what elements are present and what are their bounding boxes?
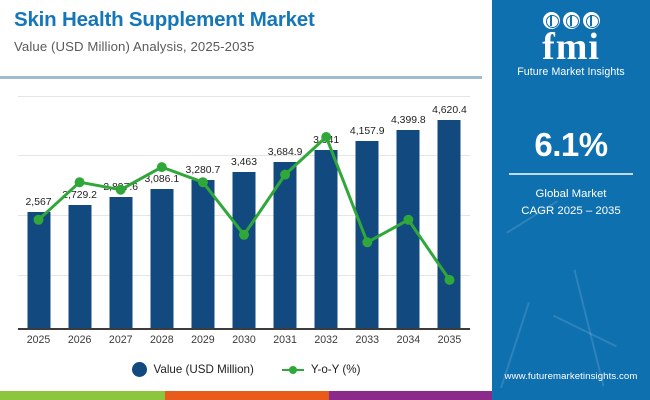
x-axis-tick: 2032 bbox=[306, 334, 347, 346]
globe-icon bbox=[583, 12, 600, 29]
yoy-line-series bbox=[18, 90, 470, 330]
cagr-value: 6.1% bbox=[492, 128, 650, 161]
yoy-data-point[interactable] bbox=[239, 230, 249, 240]
yoy-point-group bbox=[34, 132, 455, 285]
cagr-callout: 6.1% Global Market CAGR 2025 – 2035 bbox=[492, 128, 650, 220]
legend-item-yoy[interactable]: Y-o-Y (%) bbox=[282, 363, 361, 376]
yoy-data-point[interactable] bbox=[198, 177, 208, 187]
x-axis-tick: 2026 bbox=[59, 334, 100, 346]
chart-header: Skin Health Supplement Market Value (USD… bbox=[14, 8, 480, 54]
x-axis-tick: 2031 bbox=[265, 334, 306, 346]
yoy-data-point[interactable] bbox=[403, 215, 413, 225]
chart-infographic: Skin Health Supplement Market Value (USD… bbox=[0, 0, 650, 400]
stripe-segment bbox=[0, 391, 165, 400]
chart-legend: Value (USD Million) Y-o-Y (%) bbox=[0, 362, 492, 377]
cagr-description-line2: CAGR 2025 – 2035 bbox=[492, 203, 650, 220]
stripe-segment bbox=[329, 391, 492, 400]
yoy-data-point[interactable] bbox=[116, 185, 126, 195]
x-axis-tick: 2025 bbox=[18, 334, 59, 346]
stripe-segment bbox=[165, 391, 329, 400]
x-axis-tick: 2029 bbox=[182, 334, 223, 346]
x-axis-tick: 2033 bbox=[347, 334, 388, 346]
brand-panel: fmi Future Market Insights 6.1% Global M… bbox=[492, 0, 650, 400]
x-axis-tick: 2035 bbox=[429, 334, 470, 346]
yoy-data-point[interactable] bbox=[34, 215, 44, 225]
header-divider bbox=[0, 76, 482, 79]
legend-item-value[interactable]: Value (USD Million) bbox=[132, 362, 254, 377]
x-axis-tick: 2028 bbox=[141, 334, 182, 346]
page-subtitle: Value (USD Million) Analysis, 2025-2035 bbox=[14, 39, 480, 54]
plot-area: 2,5672,729.22,897.63,086.13,280.73,4633,… bbox=[18, 90, 470, 330]
yoy-data-point[interactable] bbox=[362, 237, 372, 247]
legend-label-value: Value (USD Million) bbox=[154, 363, 254, 376]
yoy-data-point[interactable] bbox=[75, 177, 85, 187]
legend-label-yoy: Y-o-Y (%) bbox=[311, 363, 361, 376]
website-url[interactable]: www.futuremarketinsights.com bbox=[492, 371, 650, 382]
fmi-logo: fmi Future Market Insights bbox=[492, 12, 650, 78]
x-axis-tick: 2034 bbox=[388, 334, 429, 346]
globe-icon bbox=[563, 12, 580, 29]
logo-globe-icons bbox=[492, 12, 650, 29]
yoy-data-point[interactable] bbox=[321, 132, 331, 142]
cagr-divider bbox=[509, 173, 633, 175]
yoy-data-point[interactable] bbox=[445, 275, 455, 285]
x-axis-labels: 2025202620272028202920302031203220332034… bbox=[18, 334, 470, 352]
logo-wordmark: fmi bbox=[492, 30, 650, 65]
page-title: Skin Health Supplement Market bbox=[14, 8, 480, 32]
globe-icon bbox=[543, 12, 560, 29]
x-axis-tick: 2027 bbox=[100, 334, 141, 346]
yoy-line-path bbox=[39, 137, 450, 280]
bottom-color-stripe bbox=[0, 391, 492, 400]
yoy-data-point[interactable] bbox=[280, 170, 290, 180]
chart-panel: Skin Health Supplement Market Value (USD… bbox=[0, 0, 492, 400]
x-axis-tick: 2030 bbox=[223, 334, 264, 346]
bar-swatch-icon bbox=[132, 362, 147, 377]
logo-tagline: Future Market Insights bbox=[492, 66, 650, 78]
cagr-description-line1: Global Market bbox=[492, 186, 650, 203]
line-swatch-icon bbox=[282, 365, 304, 375]
yoy-data-point[interactable] bbox=[157, 162, 167, 172]
